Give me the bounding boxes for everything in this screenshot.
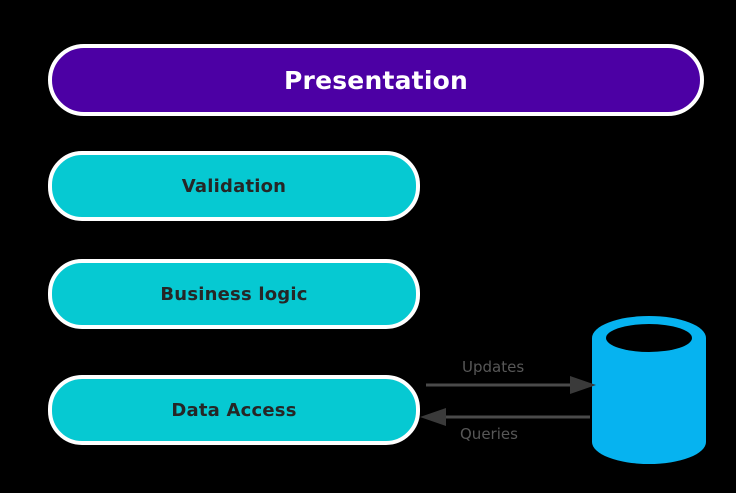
layer-box-validation[interactable]: Validation (48, 151, 420, 221)
database-top-opening (606, 324, 692, 352)
layer-label-data-access: Data Access (171, 400, 296, 421)
layer-box-business-logic[interactable]: Business logic (48, 259, 420, 329)
layer-label-business-logic: Business logic (160, 284, 307, 305)
connector-updates-arrow (420, 370, 600, 430)
layer-label-presentation: Presentation (284, 66, 468, 95)
queries-arrow-head (420, 408, 446, 426)
layer-label-validation: Validation (182, 176, 286, 197)
connector-label-queries: Queries (460, 425, 518, 443)
connector-label-updates: Updates (462, 358, 524, 376)
layer-box-data-access[interactable]: Data Access (48, 375, 420, 445)
architecture-diagram: Presentation Validation Business logic D… (0, 0, 736, 493)
database-cylinder-icon[interactable] (592, 316, 706, 464)
layer-box-presentation[interactable]: Presentation (48, 44, 704, 116)
updates-arrow-head (570, 376, 596, 394)
